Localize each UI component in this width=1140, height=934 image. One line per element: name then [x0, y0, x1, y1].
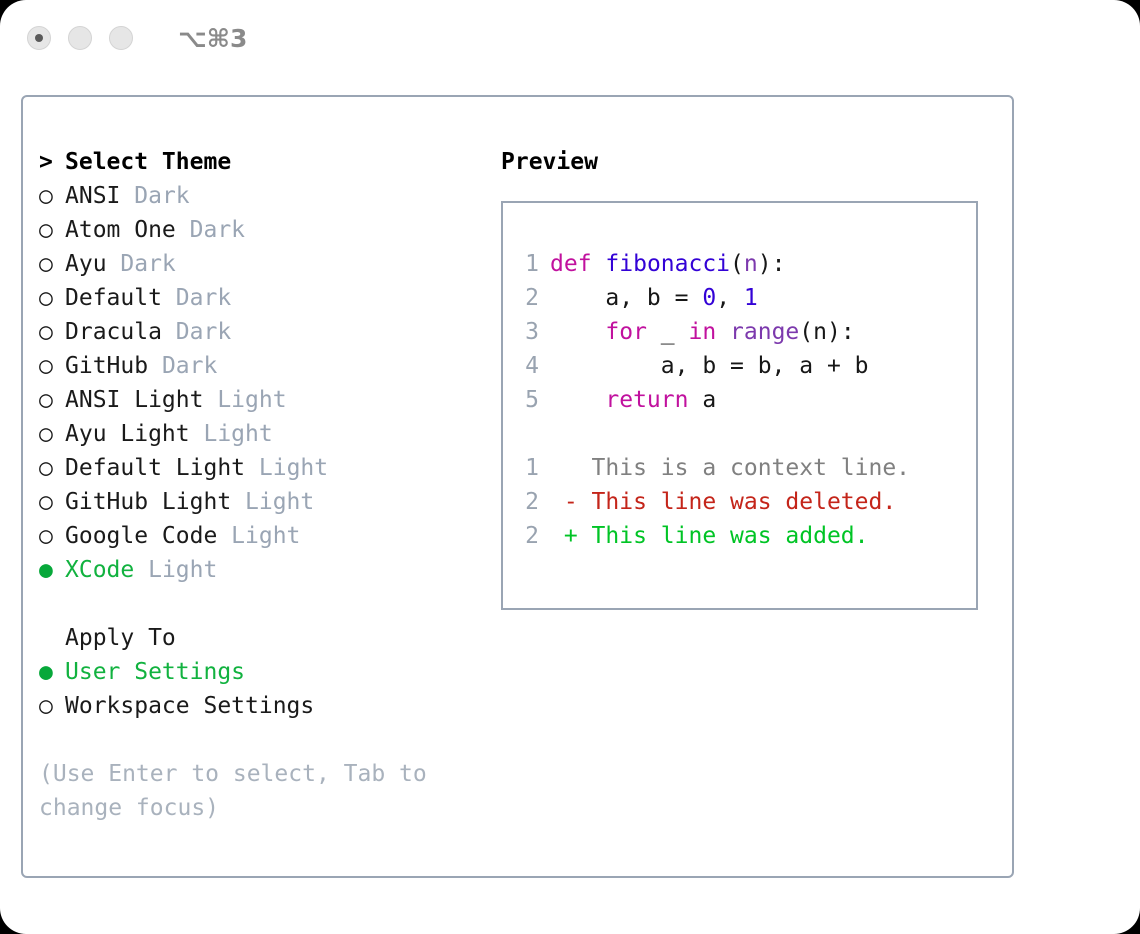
app-window: ⌥⌘3 > Select Theme ○ ANSI Dark○ Atom One… [0, 0, 1140, 934]
section-spacer [39, 587, 489, 621]
theme-variant-badge: Dark [134, 183, 189, 209]
diff-line-text: + This line was added. [550, 523, 869, 549]
theme-option-label: Google Code [65, 523, 231, 549]
apply-to-option-workspace-settings[interactable]: ○ Workspace Settings [39, 689, 489, 723]
apply-to-list: ● User Settings○ Workspace Settings [39, 655, 489, 723]
theme-option-ansi[interactable]: ○ ANSI Dark [39, 179, 489, 213]
window-dot-2[interactable] [68, 26, 92, 50]
code-token: , [716, 285, 744, 311]
window-dot-active[interactable] [27, 26, 51, 50]
code-token: 1 [744, 285, 758, 311]
code-token: 0 [702, 285, 716, 311]
theme-variant-badge: Light [217, 387, 286, 413]
theme-option-label: XCode [65, 557, 148, 583]
diff-sample: 1 This is a context line.2 - This line w… [517, 451, 972, 553]
diff-line-del: 2 - This line was deleted. [517, 485, 972, 519]
line-number: 2 [517, 281, 539, 315]
code-token [716, 319, 730, 345]
theme-option-github-light[interactable]: ○ GitHub Light Light [39, 485, 489, 519]
radio-unselected-icon: ○ [39, 349, 65, 383]
code-line: 5 return a [517, 383, 972, 417]
theme-variant-badge: Light [245, 489, 314, 515]
diff-line-add: 2 + This line was added. [517, 519, 972, 553]
window-controls [27, 26, 133, 50]
theme-picker-column: > Select Theme ○ ANSI Dark○ Atom One Dar… [39, 145, 489, 825]
radio-unselected-icon: ○ [39, 383, 65, 417]
code-diff-separator [517, 417, 972, 451]
code-token: a, b = [550, 285, 702, 311]
theme-option-label: Ayu Light [65, 421, 203, 447]
prompt-caret-icon: > [39, 145, 65, 179]
code-line: 2 a, b = 0, 1 [517, 281, 972, 315]
theme-option-default[interactable]: ○ Default Dark [39, 281, 489, 315]
radio-unselected-icon: ○ [39, 485, 65, 519]
code-token: in [688, 319, 716, 345]
code-token: def [550, 251, 592, 277]
theme-option-label: ANSI [65, 183, 134, 209]
theme-variant-badge: Dark [190, 217, 245, 243]
code-token: a, b = b, a + b [550, 353, 869, 379]
record-dot-icon [35, 34, 43, 42]
code-token: a [688, 387, 716, 413]
code-token [550, 319, 605, 345]
preview-title: Preview [501, 145, 991, 179]
theme-option-label: Atom One [65, 217, 190, 243]
code-sample: 1def fibonacci(n):2 a, b = 0, 13 for _ i… [517, 247, 972, 417]
theme-option-ayu-light[interactable]: ○ Ayu Light Light [39, 417, 489, 451]
apply-to-option-label: Workspace Settings [65, 693, 314, 719]
theme-option-label: Dracula [65, 319, 176, 345]
diff-line-text: This is a context line. [550, 455, 910, 481]
code-token: fibonacci [605, 251, 730, 277]
code-line: 1def fibonacci(n): [517, 247, 972, 281]
theme-option-label: ANSI Light [65, 387, 217, 413]
theme-variant-badge: Light [259, 455, 328, 481]
select-theme-heading: > Select Theme [39, 145, 489, 179]
theme-option-google-code[interactable]: ○ Google Code Light [39, 519, 489, 553]
keyboard-shortcut-label: ⌥⌘3 [178, 24, 247, 53]
radio-unselected-icon: ○ [39, 417, 65, 451]
theme-variant-badge: Light [231, 523, 300, 549]
radio-unselected-icon: ○ [39, 247, 65, 281]
line-number: 4 [517, 349, 539, 383]
code-token: ( [730, 251, 744, 277]
code-token: (n): [799, 319, 854, 345]
theme-option-label: GitHub [65, 353, 162, 379]
theme-option-label: Default Light [65, 455, 259, 481]
theme-option-dracula[interactable]: ○ Dracula Dark [39, 315, 489, 349]
title-bar: ⌥⌘3 [0, 0, 1140, 76]
code-line: 3 for _ in range(n): [517, 315, 972, 349]
theme-option-label: Ayu [65, 251, 120, 277]
line-number: 1 [517, 451, 539, 485]
code-token: for [605, 319, 647, 345]
select-theme-heading-label: Select Theme [65, 149, 231, 175]
code-token [592, 251, 606, 277]
code-token: n [744, 251, 758, 277]
code-token: return [605, 387, 688, 413]
radio-unselected-icon: ○ [39, 315, 65, 349]
radio-unselected-icon: ○ [39, 281, 65, 315]
theme-option-label: GitHub Light [65, 489, 245, 515]
theme-variant-badge: Dark [120, 251, 175, 277]
theme-variant-badge: Dark [162, 353, 217, 379]
theme-variant-badge: Dark [176, 319, 231, 345]
radio-unselected-icon: ○ [39, 179, 65, 213]
theme-option-ayu[interactable]: ○ Ayu Dark [39, 247, 489, 281]
code-token: _ [647, 319, 689, 345]
code-token [550, 387, 605, 413]
apply-to-heading: Apply To [39, 621, 489, 655]
radio-unselected-icon: ○ [39, 213, 65, 247]
preview-column: Preview 1def fibonacci(n):2 a, b = 0, 13… [501, 145, 991, 610]
radio-unselected-icon: ○ [39, 689, 65, 723]
theme-option-ansi-light[interactable]: ○ ANSI Light Light [39, 383, 489, 417]
line-number: 3 [517, 315, 539, 349]
line-number: 5 [517, 383, 539, 417]
theme-list: ○ ANSI Dark○ Atom One Dark○ Ayu Dark○ De… [39, 179, 489, 587]
radio-selected-icon: ● [39, 655, 65, 689]
line-number: 2 [517, 519, 539, 553]
code-line: 4 a, b = b, a + b [517, 349, 972, 383]
theme-option-label: Default [65, 285, 176, 311]
theme-variant-badge: Dark [176, 285, 231, 311]
radio-unselected-icon: ○ [39, 451, 65, 485]
line-number: 1 [517, 247, 539, 281]
window-dot-3[interactable] [109, 26, 133, 50]
radio-unselected-icon: ○ [39, 519, 65, 553]
code-token: range [730, 319, 799, 345]
theme-option-default-light[interactable]: ○ Default Light Light [39, 451, 489, 485]
code-token: ): [758, 251, 786, 277]
theme-variant-badge: Light [148, 557, 217, 583]
theme-option-github[interactable]: ○ GitHub Dark [39, 349, 489, 383]
theme-option-xcode[interactable]: ● XCode Light [39, 553, 489, 587]
diff-line-text: - This line was deleted. [550, 489, 896, 515]
diff-line-ctx: 1 This is a context line. [517, 451, 972, 485]
preview-code-box: 1def fibonacci(n):2 a, b = 0, 13 for _ i… [501, 201, 978, 610]
apply-to-option-user-settings[interactable]: ● User Settings [39, 655, 489, 689]
keyboard-hint: (Use Enter to select, Tab to change focu… [39, 757, 444, 825]
theme-variant-badge: Light [203, 421, 272, 447]
main-panel: > Select Theme ○ ANSI Dark○ Atom One Dar… [21, 95, 1014, 878]
radio-selected-icon: ● [39, 553, 65, 587]
theme-option-atom-one[interactable]: ○ Atom One Dark [39, 213, 489, 247]
apply-to-option-label: User Settings [65, 659, 245, 685]
line-number: 2 [517, 485, 539, 519]
